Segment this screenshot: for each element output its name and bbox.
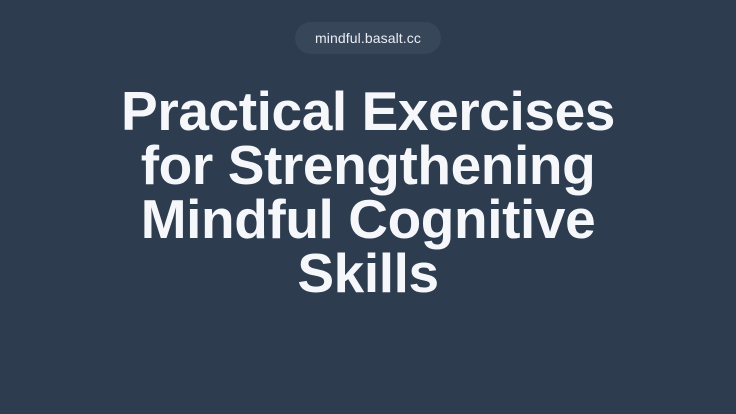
page-title-line-4: Skills — [40, 246, 696, 300]
source-domain-label: mindful.basalt.cc — [315, 31, 421, 45]
page-title-line-1: Practical Exercises — [40, 84, 696, 138]
page-title: Practical Exercises for Strengthening Mi… — [0, 84, 736, 300]
page-title-line-3: Mindful Cognitive — [40, 192, 696, 246]
slide-canvas: mindful.basalt.cc Practical Exercises fo… — [0, 0, 736, 414]
source-domain-badge: mindful.basalt.cc — [295, 22, 441, 54]
page-title-line-2: for Strengthening — [40, 138, 696, 192]
